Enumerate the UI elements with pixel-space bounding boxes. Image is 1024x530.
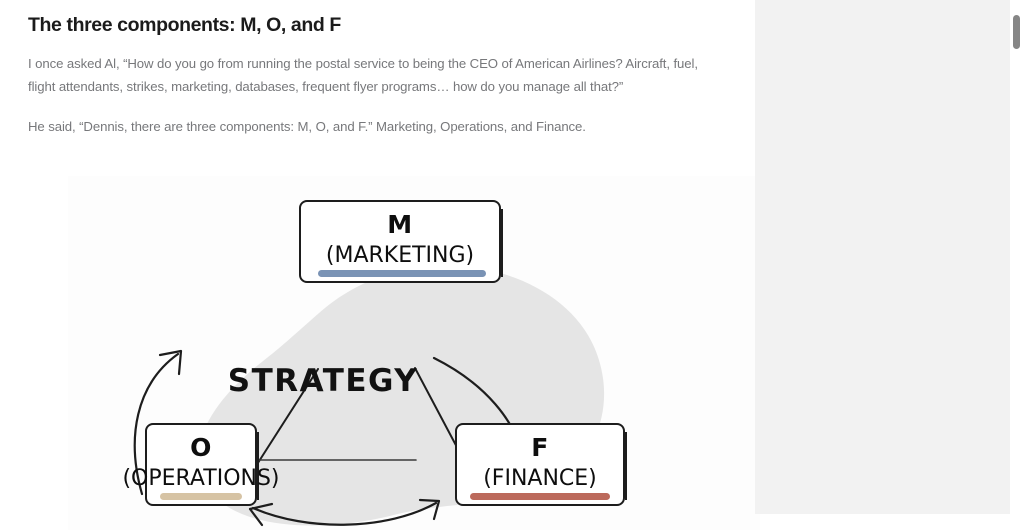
scrollbar-track[interactable] — [1010, 0, 1024, 514]
scrollbar-thumb[interactable] — [1013, 15, 1020, 49]
article-paragraph-1: I once asked Al, “How do you go from run… — [28, 52, 718, 98]
article: The three components: M, O, and F I once… — [28, 0, 720, 138]
strategy-diagram: STRATEGY M (MARKETING) O (OPERATIONS) — [68, 176, 760, 530]
article-paragraph-2: He said, “Dennis, there are three compon… — [28, 115, 720, 138]
node-marketing-letter: M — [387, 210, 412, 239]
node-operations[interactable]: O (OPERATIONS) — [122, 424, 279, 505]
node-finance-accent-underline — [470, 493, 610, 500]
node-marketing-label: (MARKETING) — [326, 243, 474, 268]
node-marketing-accent-underline — [318, 270, 486, 277]
node-operations-label: (OPERATIONS) — [122, 466, 279, 491]
node-finance[interactable]: F (FINANCE) — [456, 424, 626, 505]
strategy-center-label: STRATEGY — [228, 363, 418, 399]
strategy-diagram-svg: STRATEGY M (MARKETING) O (OPERATIONS) — [68, 176, 760, 530]
page-root: The three components: M, O, and F I once… — [0, 0, 1024, 514]
node-finance-letter: F — [531, 433, 549, 462]
right-pane — [755, 0, 1024, 514]
node-operations-letter: O — [190, 433, 212, 462]
node-operations-accent-underline — [160, 493, 242, 500]
content-column: The three components: M, O, and F I once… — [0, 0, 755, 514]
node-marketing[interactable]: M (MARKETING) — [300, 201, 502, 282]
page-title: The three components: M, O, and F — [28, 0, 720, 38]
node-finance-label: (FINANCE) — [483, 466, 597, 491]
